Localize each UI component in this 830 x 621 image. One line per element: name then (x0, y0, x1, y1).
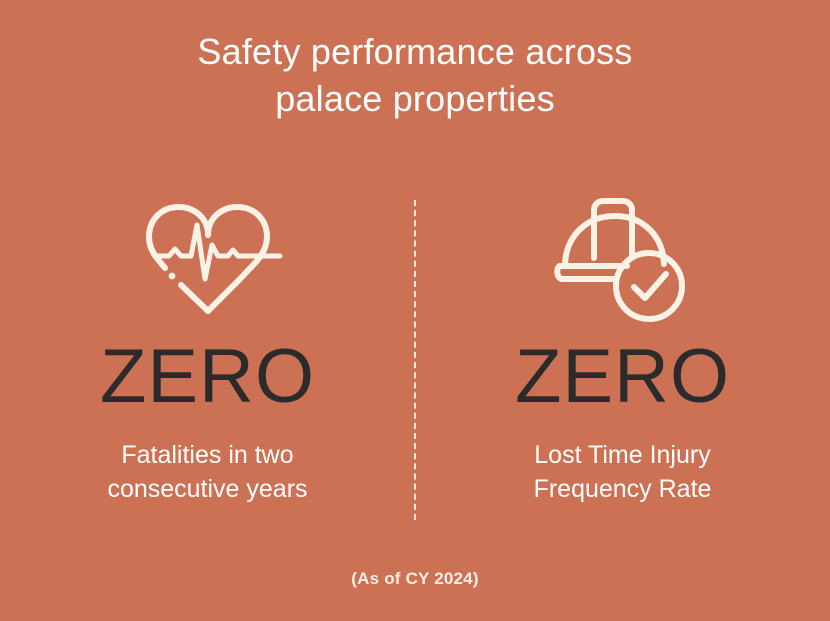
hard-hat-check-icon (553, 190, 693, 330)
stat-card-ltifr: ZERO Lost Time Injury Frequency Rate (415, 190, 830, 530)
safety-performance-infographic: Safety performance across palace propert… (0, 0, 830, 621)
caption-line-1: Lost Time Injury (534, 438, 712, 472)
stat-caption-fatalities: Fatalities in two consecutive years (107, 438, 307, 506)
stat-card-fatalities: ZERO Fatalities in two consecutive years (0, 190, 415, 530)
stat-value-fatalities: ZERO (100, 338, 315, 416)
stat-value-ltifr: ZERO (515, 338, 730, 416)
footnote: (As of CY 2024) (0, 569, 830, 589)
page-title: Safety performance across palace propert… (0, 28, 830, 122)
heart-pulse-icon (133, 190, 283, 330)
stat-caption-ltifr: Lost Time Injury Frequency Rate (534, 438, 712, 506)
caption-line-1: Fatalities in two (107, 438, 307, 472)
stats-row: ZERO Fatalities in two consecutive years (0, 190, 830, 530)
caption-line-2: Frequency Rate (534, 472, 712, 506)
caption-line-2: consecutive years (107, 472, 307, 506)
title-line-2: palace properties (0, 75, 830, 122)
title-line-1: Safety performance across (0, 28, 830, 75)
